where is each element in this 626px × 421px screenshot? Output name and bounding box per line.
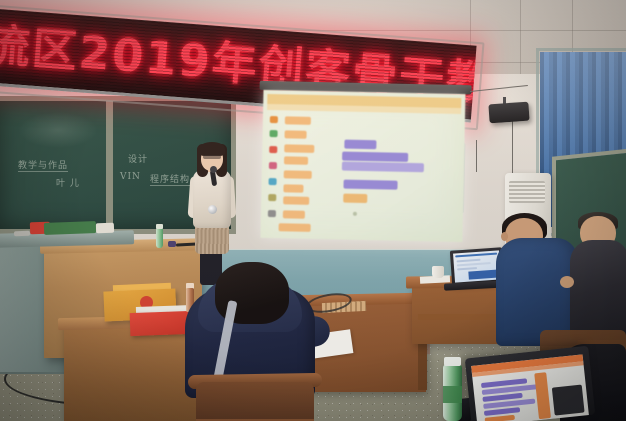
preview-panel <box>552 385 585 416</box>
bottle-label <box>443 386 462 403</box>
bottle-cap <box>156 224 163 229</box>
palette-dot <box>269 146 277 153</box>
projected-image <box>260 90 465 242</box>
palette-item <box>284 156 308 165</box>
wall-speaker <box>488 102 529 124</box>
palette-dot <box>270 116 278 123</box>
screen-line <box>457 267 477 270</box>
screen-panel <box>468 270 496 280</box>
wall-wire <box>476 140 477 172</box>
bottle-cap <box>444 357 461 366</box>
palette-dot <box>269 178 277 185</box>
chalk-line: 程序结构 <box>150 172 190 186</box>
code-block <box>344 140 376 150</box>
wall-wire <box>512 120 513 176</box>
palette-item <box>279 223 311 232</box>
chalk-line: 教学与作品 <box>18 158 68 172</box>
chalkboard-divider <box>106 96 113 234</box>
palette-dot <box>269 162 277 169</box>
code-block <box>343 194 367 204</box>
palette-item <box>283 196 309 205</box>
laptop-front-screen <box>471 354 589 421</box>
chalk-line: VIN <box>120 172 141 182</box>
code-block <box>485 415 515 421</box>
paper-cup <box>432 266 444 278</box>
laptop-rear-screen <box>453 250 501 282</box>
chalk-smudge <box>18 112 98 148</box>
screen-line <box>457 259 481 263</box>
code-block <box>342 152 408 162</box>
attendee-dark-jacket <box>570 240 626 340</box>
screen-line <box>457 262 491 266</box>
palette-dot <box>268 194 276 201</box>
red-toolbox <box>130 311 193 336</box>
presenter-badge <box>208 205 217 214</box>
desk-item-purple <box>168 241 176 247</box>
microphone-head <box>210 166 217 173</box>
palette-item <box>284 130 306 138</box>
presenter-hair-top <box>199 142 225 156</box>
palette-item <box>283 184 303 192</box>
code-block <box>343 180 397 190</box>
sidebar-strip <box>534 372 551 419</box>
palette-item <box>284 144 314 153</box>
wooden-chair <box>196 382 314 421</box>
palette-dot <box>270 130 278 137</box>
cursor-dot <box>353 212 357 216</box>
window-titlebar <box>455 253 497 258</box>
palette-dot <box>268 210 276 217</box>
desk-item-gray <box>14 231 30 237</box>
palette-item <box>284 170 312 179</box>
attendee-dark-hand <box>560 276 574 288</box>
water-bottle <box>156 228 163 248</box>
white-box <box>96 223 114 234</box>
palette-item <box>285 116 311 125</box>
chalk-line: 叶 儿 <box>56 176 80 189</box>
code-block <box>342 162 424 173</box>
chalk-line: 设计 <box>128 152 148 165</box>
palette-item <box>283 210 305 218</box>
classroom-photo: 教学与作品 叶 儿 设计 VIN 程序结构 流区2019年创客骨干教师培训 <box>0 0 626 421</box>
air-conditioner-grille <box>509 181 545 203</box>
code-block <box>484 407 520 416</box>
projection-screen <box>256 81 471 245</box>
presenter-glasses <box>203 155 221 159</box>
desk-leg <box>418 340 427 390</box>
attendee-blue-ear <box>501 232 508 241</box>
green-box <box>44 221 96 235</box>
